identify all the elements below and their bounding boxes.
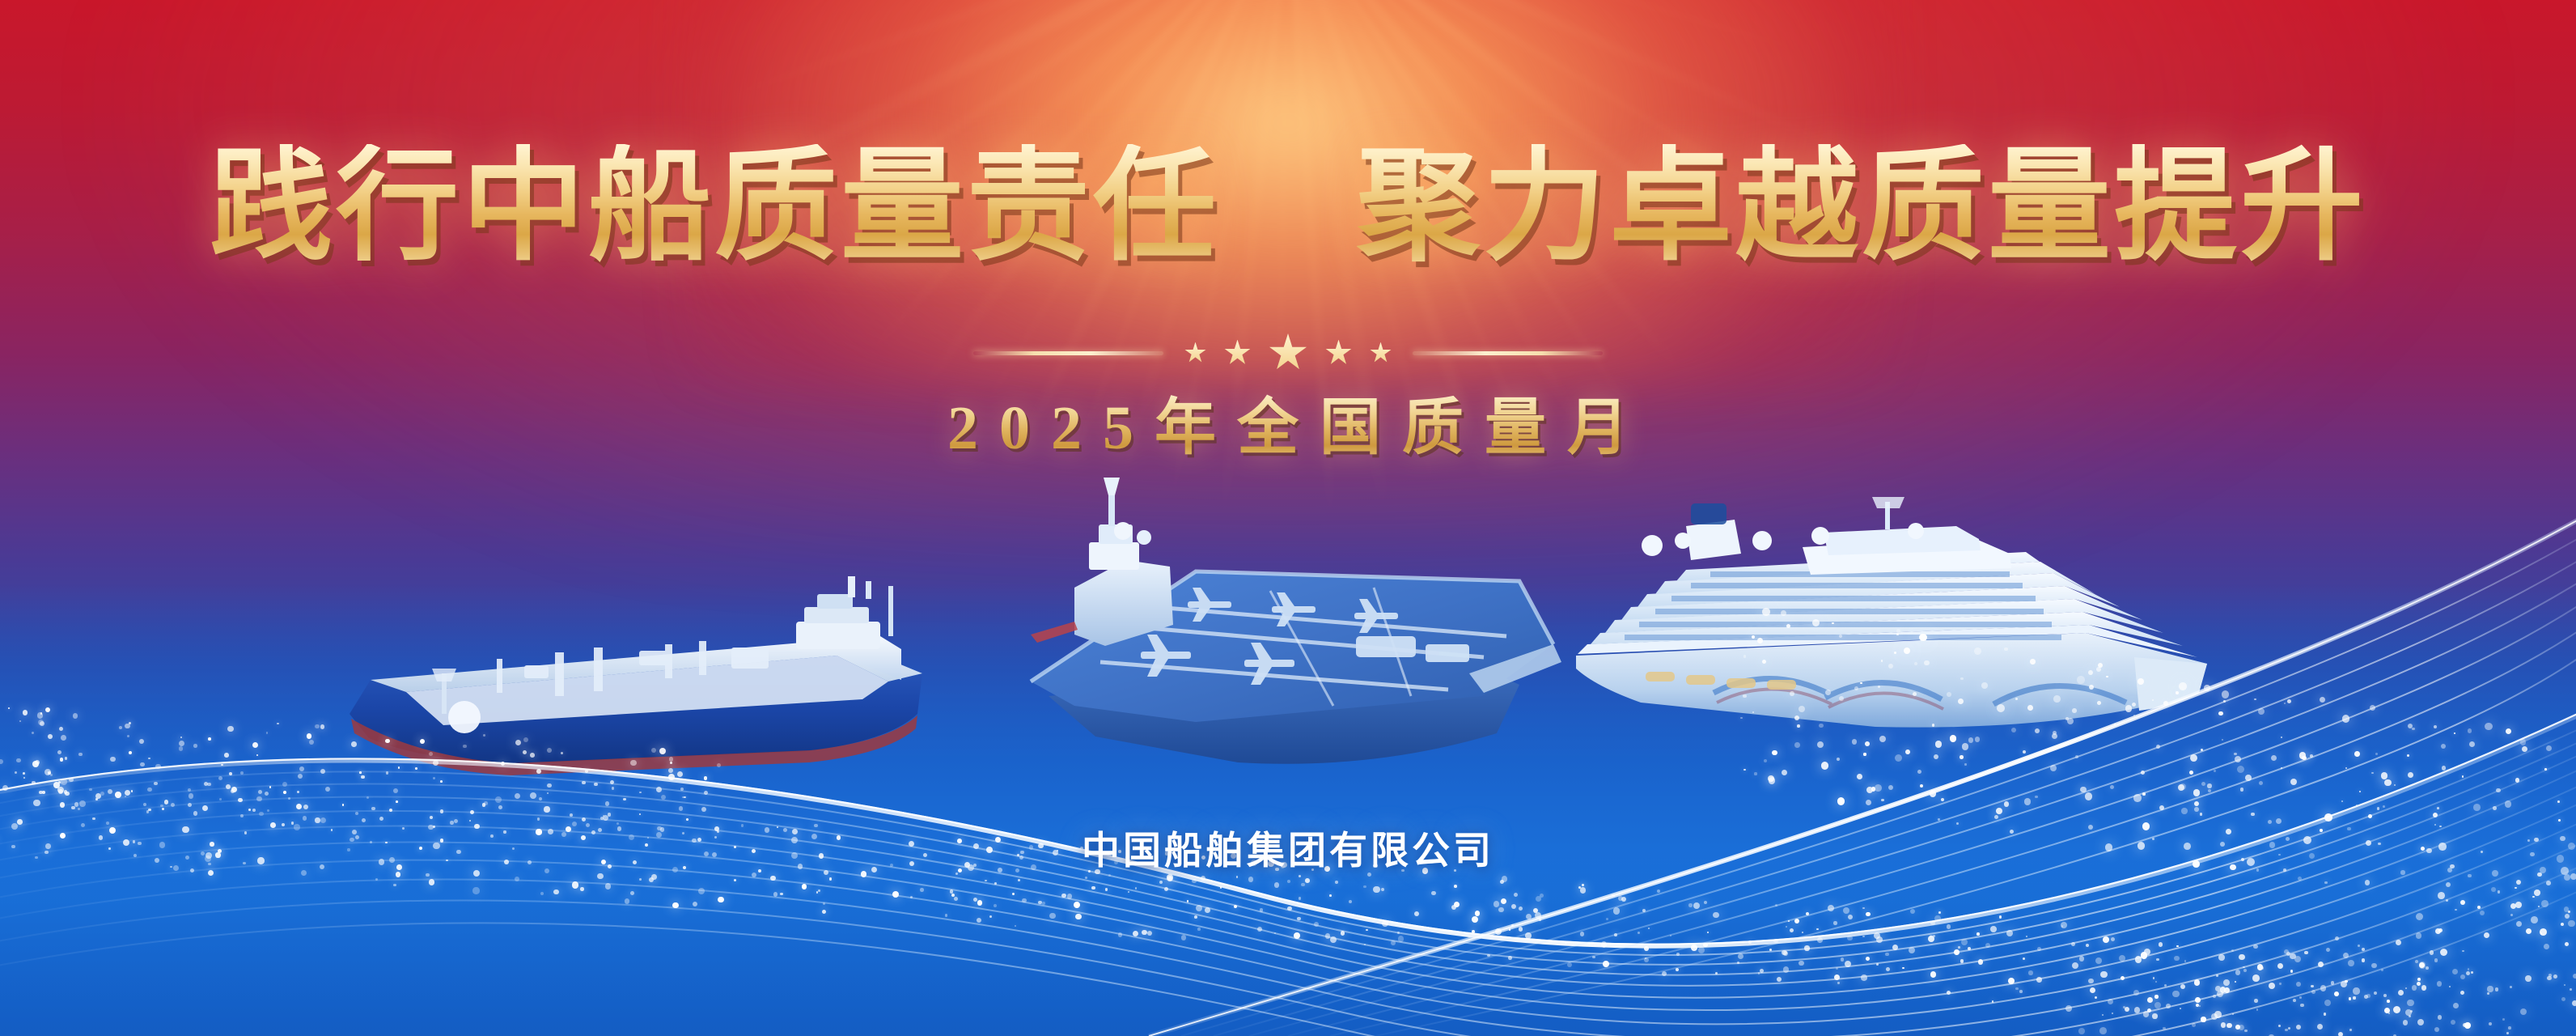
company-name: 中国船舶集团有限公司	[0, 819, 2576, 875]
ship-cruise-liner	[1568, 490, 2239, 758]
headline-segment-2: 聚力卓越质量提升	[1357, 144, 2366, 270]
subtitle: 2025年全国质量月	[0, 393, 2576, 464]
star-icon-5	[1370, 342, 1392, 364]
star-icon-4	[1325, 340, 1352, 367]
star-icon-3	[1269, 333, 1307, 372]
headline-segment-1: 践行中船质量责任	[210, 144, 1219, 270]
divider-rule-right	[1413, 351, 1603, 355]
divider-stars	[1184, 333, 1392, 372]
quality-month-banner: 践行中船质量责任聚力卓越质量提升 2025年全国质量月 中国船舶集团有限公司	[0, 0, 2576, 1036]
star-icon-1	[1184, 342, 1206, 364]
ship-lng-carrier	[322, 526, 937, 793]
divider-rule-left	[973, 351, 1163, 355]
star-icon-2	[1224, 340, 1251, 367]
ocean-deep-gradient	[0, 850, 2576, 1036]
company-name-text: 中国船舶集团有限公司	[1082, 829, 1494, 872]
decorative-divider	[0, 333, 2576, 372]
ship-aircraft-carrier	[953, 453, 1584, 793]
subtitle-text: 2025年全国质量月	[926, 393, 1650, 464]
page-title: 践行中船质量责任聚力卓越质量提升	[0, 144, 2576, 270]
